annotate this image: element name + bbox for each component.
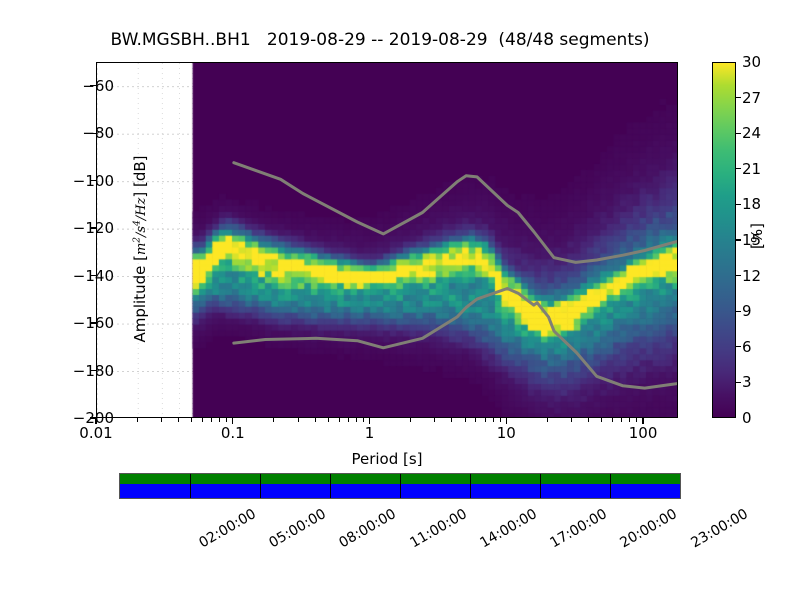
coverage-tick: [470, 474, 471, 498]
colorbar-tick-label: 21: [742, 160, 761, 178]
time-tick-label: 14:00:00: [477, 506, 539, 551]
colorbar-tick-label: 6: [742, 338, 752, 356]
ppsd-plot-area[interactable]: [96, 62, 678, 418]
colorbar[interactable]: [712, 62, 736, 418]
x-tick-label: 1: [365, 424, 375, 442]
coverage-tick: [260, 474, 261, 498]
y-axis-label-math: m2/s4/Hz: [134, 198, 149, 255]
x-tick-label: 0.01: [79, 424, 112, 442]
x-tick-label: 10: [497, 424, 516, 442]
colorbar-tick-mark: [736, 239, 741, 240]
x-minor-tick-mark: [621, 418, 622, 422]
x-minor-tick-mark: [547, 418, 548, 422]
colorbar-tick-label: 30: [742, 53, 761, 71]
y-tick-mark: [90, 370, 96, 371]
x-minor-tick-mark: [161, 418, 162, 422]
x-minor-tick-mark: [315, 418, 316, 422]
x-minor-tick-mark: [485, 418, 486, 422]
x-minor-tick-mark: [629, 418, 630, 422]
x-tick-label: 100: [629, 424, 658, 442]
colorbar-tick-label: 24: [742, 124, 761, 142]
x-minor-tick-mark: [451, 418, 452, 422]
noise-model-lines: [97, 63, 677, 417]
x-minor-tick-mark: [612, 418, 613, 422]
time-tick-label: 11:00:00: [407, 506, 469, 551]
colorbar-tick-mark: [736, 275, 741, 276]
x-minor-tick-mark: [475, 418, 476, 422]
x-tick-mark: [642, 418, 643, 424]
time-tick-label: 05:00:00: [267, 506, 329, 551]
x-minor-tick-mark: [363, 418, 364, 422]
colorbar-label: [%]: [748, 223, 766, 249]
y-tick-mark: [90, 180, 96, 181]
colorbar-tick-mark: [736, 311, 741, 312]
y-tick-label: −60: [54, 77, 114, 95]
coverage-tick: [540, 474, 541, 498]
y-tick-label: −100: [54, 172, 114, 190]
noise-model-curves: [97, 63, 677, 417]
time-tick-label: 23:00:00: [688, 506, 750, 551]
x-minor-tick-mark: [601, 418, 602, 422]
x-minor-tick-mark: [226, 418, 227, 422]
coverage-tick: [190, 474, 191, 498]
x-minor-tick-mark: [636, 418, 637, 422]
x-tick-label: 0.1: [221, 424, 245, 442]
x-minor-tick-mark: [178, 418, 179, 422]
coverage-tick: [400, 474, 401, 498]
colorbar-tick-mark: [736, 346, 741, 347]
y-tick-label: −80: [54, 124, 114, 142]
time-tick-label: 17:00:00: [548, 506, 610, 551]
y-tick-mark: [90, 227, 96, 228]
colorbar-tick-mark: [736, 133, 741, 134]
x-tick-mark: [506, 418, 507, 424]
x-minor-tick-mark: [500, 418, 501, 422]
x-axis-label: Period [s]: [96, 450, 678, 468]
colorbar-tick-mark: [736, 204, 741, 205]
x-minor-tick-mark: [339, 418, 340, 422]
y-axis-label: Amplitude [m2/s4/Hz] [dB]: [131, 69, 149, 429]
time-tick-label: 20:00:00: [618, 506, 680, 551]
time-tick-label: 08:00:00: [337, 506, 399, 551]
x-minor-tick-mark: [348, 418, 349, 422]
x-minor-tick-mark: [410, 418, 411, 422]
data-coverage-bar[interactable]: [119, 473, 681, 499]
x-minor-tick-mark: [273, 418, 274, 422]
y-tick-label: −180: [54, 362, 114, 380]
ppsd-figure: BW.MGSBH..BH1 2019-08-29 -- 2019-08-29 (…: [0, 0, 800, 600]
colorbar-tick-label: 9: [742, 302, 752, 320]
x-minor-tick-mark: [202, 418, 203, 422]
x-minor-tick-mark: [465, 418, 466, 422]
colorbar-tick-label: 27: [742, 89, 761, 107]
x-minor-tick-mark: [211, 418, 212, 422]
x-minor-tick-mark: [298, 418, 299, 422]
coverage-tick: [610, 474, 611, 498]
x-minor-tick-mark: [571, 418, 572, 422]
page-title: BW.MGSBH..BH1 2019-08-29 -- 2019-08-29 (…: [0, 30, 760, 50]
colorbar-tick-label: 12: [742, 267, 761, 285]
x-minor-tick-mark: [493, 418, 494, 422]
x-tick-mark: [232, 418, 233, 424]
colorbar-tick-mark: [736, 382, 741, 383]
y-tick-label: −120: [54, 219, 114, 237]
y-tick-label: −160: [54, 314, 114, 332]
colorbar-tick-label: 18: [742, 195, 761, 213]
y-tick-mark: [90, 133, 96, 134]
coverage-tick: [330, 474, 331, 498]
x-minor-tick-mark: [191, 418, 192, 422]
colorbar-tick-label: 3: [742, 373, 752, 391]
y-tick-mark: [90, 322, 96, 323]
y-tick-mark: [90, 85, 96, 86]
x-minor-tick-mark: [219, 418, 220, 422]
x-tick-mark: [369, 418, 370, 424]
x-minor-tick-mark: [434, 418, 435, 422]
x-tick-mark: [95, 418, 96, 424]
time-tick-label: 02:00:00: [196, 506, 258, 551]
colorbar-tick-mark: [736, 168, 741, 169]
x-minor-tick-mark: [588, 418, 589, 422]
y-tick-label: −140: [54, 267, 114, 285]
x-minor-tick-mark: [328, 418, 329, 422]
colorbar-tick-mark: [736, 97, 741, 98]
colorbar-tick-label: 0: [742, 409, 752, 427]
y-tick-mark: [90, 275, 96, 276]
x-minor-tick-mark: [356, 418, 357, 422]
